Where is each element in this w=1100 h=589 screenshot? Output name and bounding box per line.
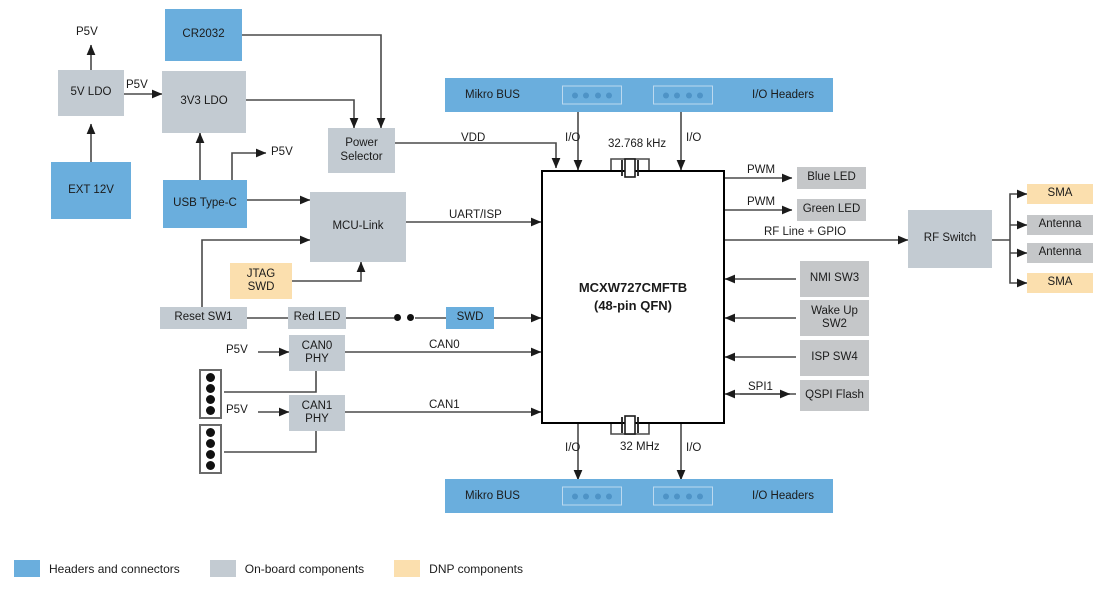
connector-pin: [674, 493, 680, 499]
block-diagram-canvas: CR2032 5V LDO 3V3 LDO EXT 12V USB Type-C…: [0, 0, 1100, 589]
legend-label-headers-connectors: Headers and connectors: [49, 562, 180, 576]
label-can1: CAN1: [429, 399, 460, 411]
header-pin: [206, 395, 215, 404]
block-sma-top-label: SMA: [1048, 187, 1073, 200]
label-p5v-ldo: P5V: [126, 79, 148, 91]
connector-pin: [583, 92, 589, 98]
connector-pin: [663, 493, 669, 499]
label-uart-isp: UART/ISP: [449, 209, 502, 221]
connector-pin: [686, 92, 692, 98]
can1-pin-header[interactable]: [199, 424, 222, 474]
block-5v-ldo-label: 5V LDO: [71, 86, 112, 99]
block-ext-12v-label: EXT 12V: [68, 184, 114, 197]
header-pin: [206, 384, 215, 393]
top-bar-io-headers-label: I/O Headers: [752, 89, 814, 101]
block-can1-phy-label-line2: PHY: [305, 413, 329, 426]
legend-item-onboard-components: On-board components: [210, 560, 364, 577]
legend-label-dnp-components: DNP components: [429, 562, 523, 576]
block-antenna-lower[interactable]: Antenna: [1027, 243, 1093, 263]
block-swd[interactable]: SWD: [446, 307, 494, 329]
block-red-led[interactable]: Red LED: [288, 307, 346, 329]
block-mcu[interactable]: MCXW727CMFTB (48-pin QFN): [541, 170, 725, 424]
label-p5v-can0: P5V: [226, 344, 248, 356]
header-pin: [206, 428, 215, 437]
bottom-bar-connector-right[interactable]: [653, 487, 713, 506]
block-jtag-swd[interactable]: JTAG SWD: [230, 263, 292, 299]
top-bar-connector-right[interactable]: [653, 86, 713, 105]
connector-pin: [663, 92, 669, 98]
label-xtal-32mhz: 32 MHz: [620, 441, 660, 453]
block-5v-ldo[interactable]: 5V LDO: [58, 70, 124, 116]
label-p5v-usb: P5V: [271, 146, 293, 158]
block-can1-phy-label-line1: CAN1: [302, 400, 333, 413]
bottom-header-bar[interactable]: Mikro BUS I/O Headers: [445, 479, 833, 513]
block-qspi-flash[interactable]: QSPI Flash: [800, 380, 869, 411]
block-can1-phy[interactable]: CAN1 PHY: [289, 395, 345, 431]
header-pin: [206, 439, 215, 448]
block-sma-top[interactable]: SMA: [1027, 184, 1093, 204]
bottom-bar-mikro-bus-label: Mikro BUS: [465, 490, 520, 502]
legend-item-dnp-components: DNP components: [394, 560, 523, 577]
label-vdd: VDD: [461, 132, 485, 144]
label-io-top-right: I/O: [686, 132, 701, 144]
legend-swatch-dnp-components: [394, 560, 420, 577]
legend-item-headers-connectors: Headers and connectors: [14, 560, 180, 577]
connector-pin: [595, 92, 601, 98]
header-pin: [206, 373, 215, 382]
connector-pin: [606, 92, 612, 98]
block-wake-up-sw2[interactable]: Wake Up SW2: [800, 300, 869, 336]
bottom-bar-connector-left[interactable]: [562, 487, 622, 506]
block-antenna-upper-label: Antenna: [1039, 218, 1082, 231]
label-io-bottom-left: I/O: [565, 442, 580, 454]
connector-pin: [606, 493, 612, 499]
block-isp-sw4-label: ISP SW4: [811, 351, 857, 364]
block-sma-bottom-label: SMA: [1048, 276, 1073, 289]
label-spi1: SPI1: [748, 381, 773, 393]
label-pwm-green: PWM: [747, 196, 775, 208]
label-p5v-can1: P5V: [226, 404, 248, 416]
block-wake-up-sw2-label-line1: Wake Up: [811, 305, 858, 318]
mcu-part-number: MCXW727CMFTB: [579, 279, 687, 297]
top-bar-connector-left[interactable]: [562, 86, 622, 105]
block-power-selector[interactable]: Power Selector: [328, 128, 395, 173]
header-pin: [206, 406, 215, 415]
block-3v3-ldo[interactable]: 3V3 LDO: [162, 71, 246, 133]
legend-swatch-onboard-components: [210, 560, 236, 577]
block-mcu-link[interactable]: MCU-Link: [310, 192, 406, 262]
legend: Headers and connectors On-board componen…: [14, 560, 523, 577]
label-io-top-left: I/O: [565, 132, 580, 144]
connector-pin: [572, 493, 578, 499]
block-green-led[interactable]: Green LED: [797, 199, 866, 221]
block-green-led-label: Green LED: [803, 203, 861, 216]
can0-pin-header[interactable]: [199, 369, 222, 419]
label-io-bottom-right: I/O: [686, 442, 701, 454]
connector-pin: [697, 493, 703, 499]
block-cr2032[interactable]: CR2032: [165, 9, 242, 61]
block-isp-sw4[interactable]: ISP SW4: [800, 340, 869, 376]
label-xtal-32768khz: 32.768 kHz: [608, 138, 666, 150]
label-rf-line-gpio: RF Line + GPIO: [764, 226, 846, 238]
block-ext-12v[interactable]: EXT 12V: [51, 162, 131, 219]
connector-pin: [583, 493, 589, 499]
block-blue-led-label: Blue LED: [807, 171, 856, 184]
block-jtag-swd-label-line1: JTAG: [247, 268, 276, 281]
header-pin: [206, 450, 215, 459]
crystal-32mhz: [617, 415, 643, 435]
block-power-selector-label-line2: Selector: [340, 151, 382, 164]
block-rf-switch-label: RF Switch: [924, 232, 976, 245]
block-antenna-lower-label: Antenna: [1039, 246, 1082, 259]
test-point-dot-right: [407, 314, 414, 321]
test-point-dot-left: [394, 314, 401, 321]
label-can0: CAN0: [429, 339, 460, 351]
label-pwm-blue: PWM: [747, 164, 775, 176]
block-sma-bottom[interactable]: SMA: [1027, 273, 1093, 293]
block-wake-up-sw2-label-line2: SW2: [822, 318, 847, 331]
legend-label-onboard-components: On-board components: [245, 562, 364, 576]
connector-pin: [674, 92, 680, 98]
label-p5v-top: P5V: [76, 26, 98, 38]
top-header-bar[interactable]: Mikro BUS I/O Headers: [445, 78, 833, 112]
connector-pin: [697, 92, 703, 98]
header-pin: [206, 461, 215, 470]
legend-swatch-headers-connectors: [14, 560, 40, 577]
block-blue-led[interactable]: Blue LED: [797, 167, 866, 189]
block-antenna-upper[interactable]: Antenna: [1027, 215, 1093, 235]
crystal-32768khz: [617, 158, 643, 178]
block-nmi-sw3-label: NMI SW3: [810, 272, 859, 285]
block-mcu-link-label: MCU-Link: [332, 220, 383, 233]
block-nmi-sw3[interactable]: NMI SW3: [800, 261, 869, 297]
block-usb-type-c-label: USB Type-C: [173, 197, 237, 210]
block-cr2032-label: CR2032: [182, 28, 224, 41]
connector-pin: [686, 493, 692, 499]
test-point-dots: [394, 314, 416, 322]
block-red-led-label: Red LED: [294, 311, 341, 324]
bottom-bar-io-headers-label: I/O Headers: [752, 490, 814, 502]
block-usb-type-c[interactable]: USB Type-C: [163, 180, 247, 228]
connector-pin: [595, 493, 601, 499]
block-power-selector-label-line1: Power: [345, 137, 378, 150]
block-reset-sw1[interactable]: Reset SW1: [160, 307, 247, 329]
block-can0-phy[interactable]: CAN0 PHY: [289, 335, 345, 371]
block-reset-sw1-label: Reset SW1: [174, 311, 232, 324]
block-swd-label: SWD: [457, 311, 484, 324]
block-3v3-ldo-label: 3V3 LDO: [180, 95, 227, 108]
block-jtag-swd-label-line2: SWD: [248, 281, 275, 294]
block-can0-phy-label-line2: PHY: [305, 353, 329, 366]
mcu-package: (48-pin QFN): [594, 297, 672, 315]
top-bar-mikro-bus-label: Mikro BUS: [465, 89, 520, 101]
block-qspi-flash-label: QSPI Flash: [805, 389, 864, 402]
block-can0-phy-label-line1: CAN0: [302, 340, 333, 353]
connector-pin: [572, 92, 578, 98]
block-rf-switch[interactable]: RF Switch: [908, 210, 992, 268]
